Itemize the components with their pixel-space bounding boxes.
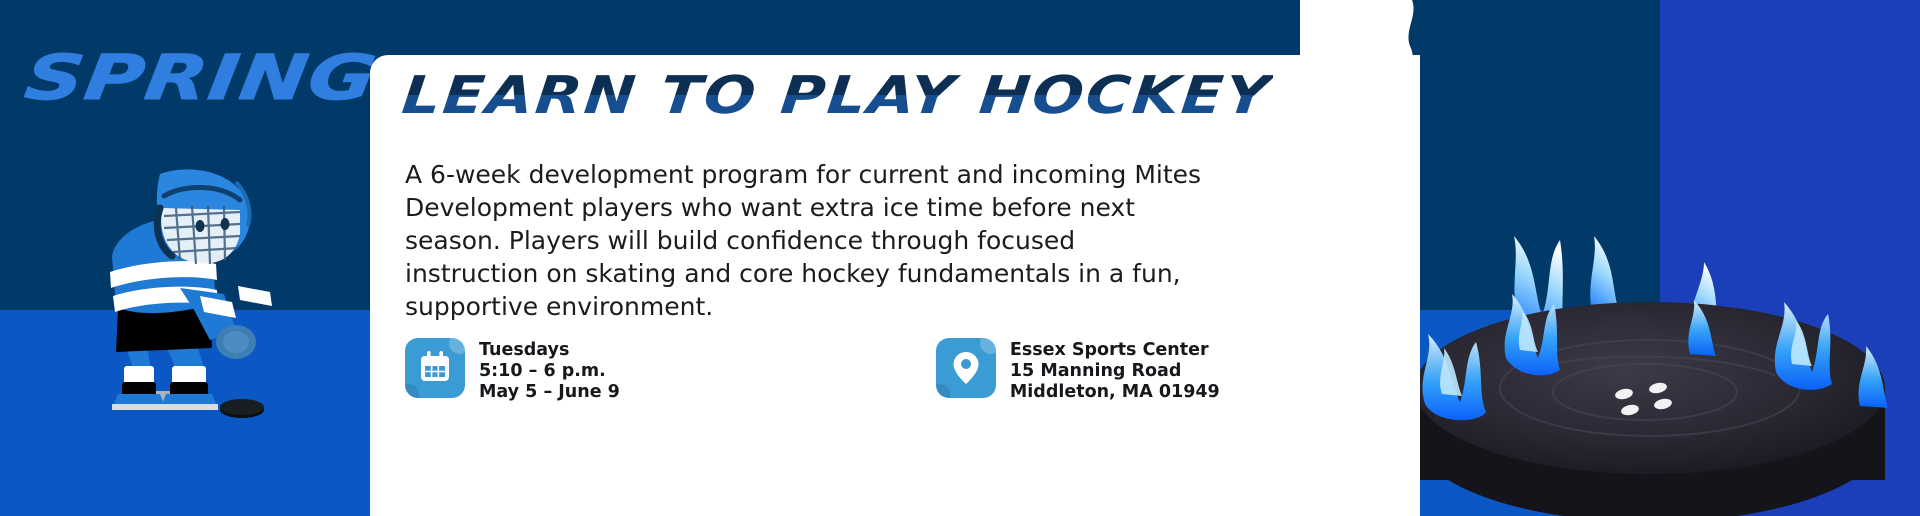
calendar-icon	[405, 338, 465, 398]
schedule-info-text: Tuesdays 5:10 – 6 p.m. May 5 – June 9	[479, 338, 620, 403]
info-row: Tuesdays 5:10 – 6 p.m. May 5 – June 9 Es…	[405, 338, 1220, 403]
title-container: LEARN TO PLAY HOCKEY	[405, 70, 1325, 140]
promo-banner: SPRING	[0, 0, 1920, 516]
location-line-3: Middleton, MA 01949	[1010, 382, 1220, 403]
description-text: A 6-week development program for current…	[405, 158, 1205, 323]
location-pin-icon	[936, 338, 996, 398]
schedule-info-item: Tuesdays 5:10 – 6 p.m. May 5 – June 9	[405, 338, 620, 403]
location-line-1: Essex Sports Center	[1010, 340, 1220, 361]
schedule-line-2: 5:10 – 6 p.m.	[479, 361, 620, 382]
hockey-player-illustration	[60, 160, 290, 420]
location-info-item: Essex Sports Center 15 Manning Road Midd…	[936, 338, 1220, 403]
schedule-line-1: Tuesdays	[479, 340, 620, 361]
schedule-line-3: May 5 – June 9	[479, 382, 620, 403]
location-info-text: Essex Sports Center 15 Manning Road Midd…	[1010, 338, 1220, 403]
season-label: SPRING	[22, 47, 381, 109]
page-title: LEARN TO PLAY HOCKEY	[400, 70, 1274, 122]
location-line-2: 15 Manning Road	[1010, 361, 1220, 382]
